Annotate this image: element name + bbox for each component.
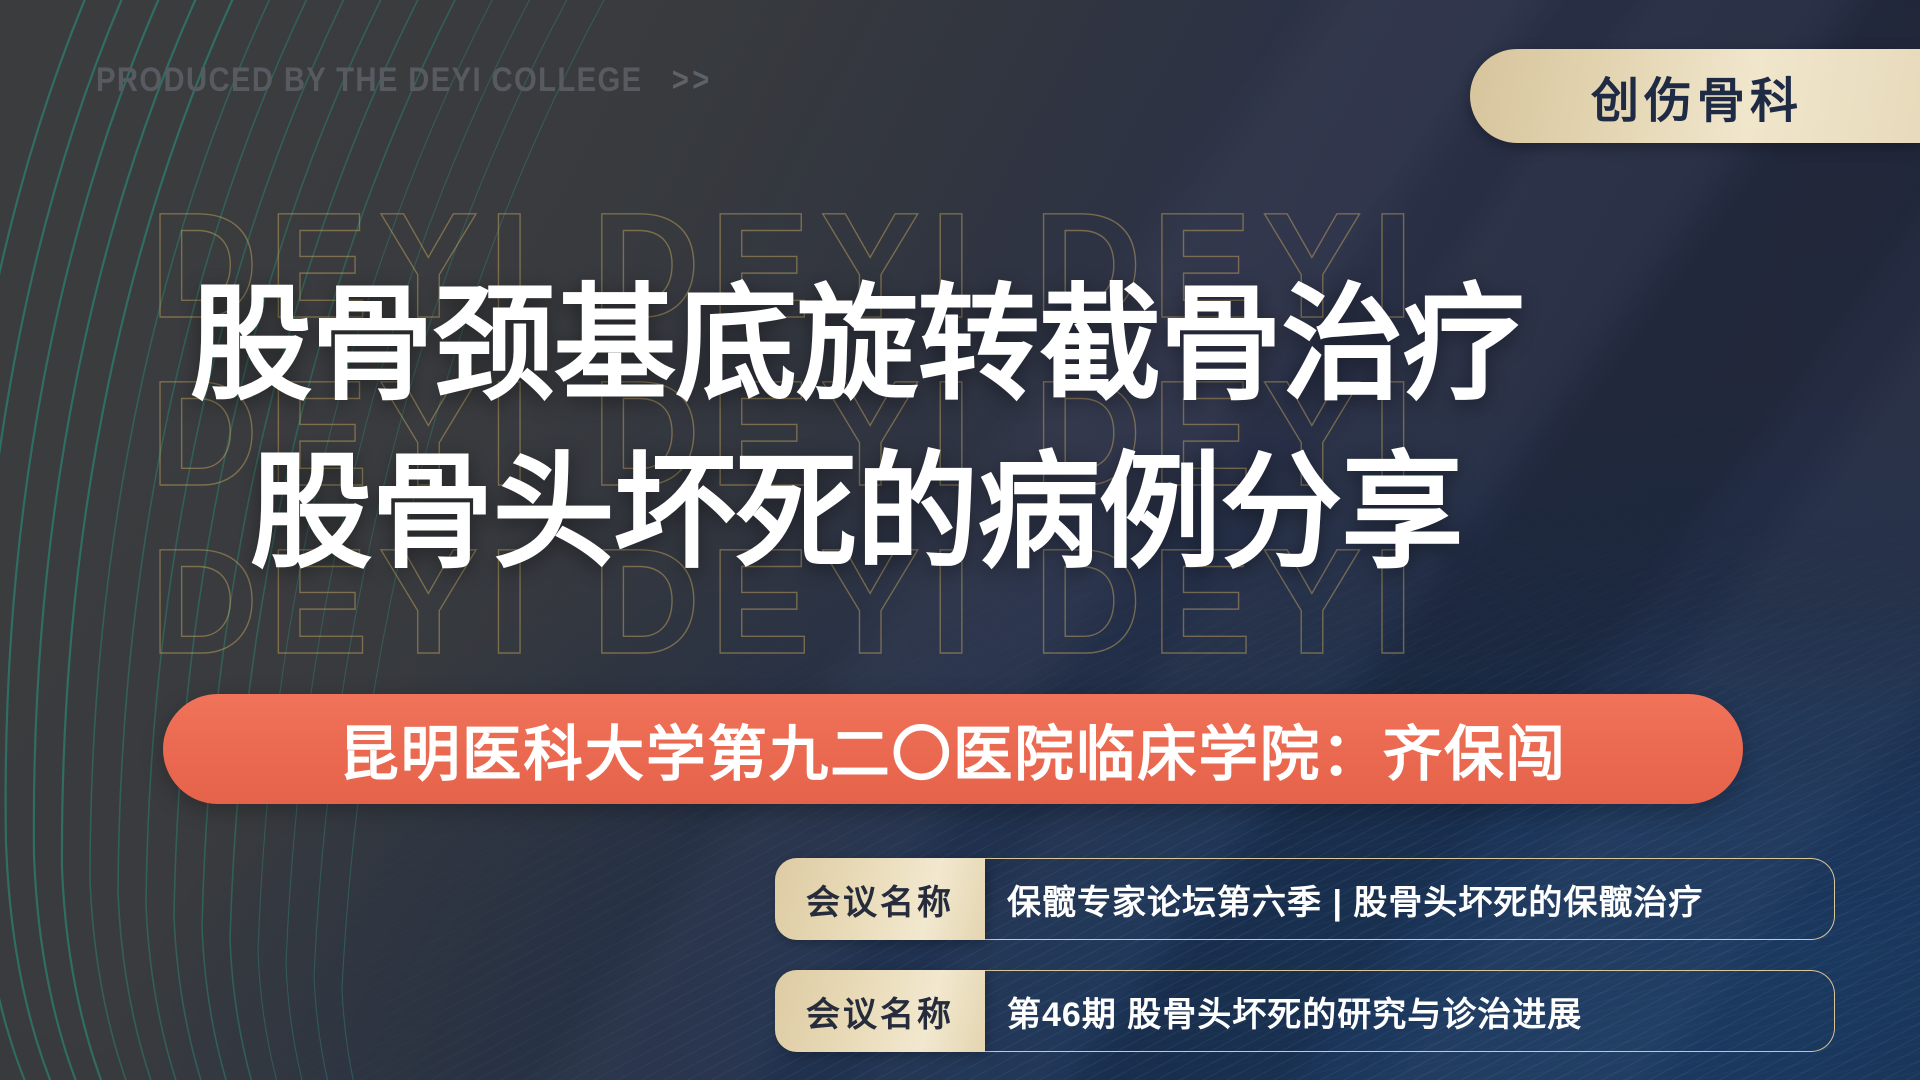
info-row-label-tab-1: 会议名称 — [775, 858, 985, 940]
poster-canvas: DEYI DEYI DEYI DEYI DEYI DEYI DEYI DEYI … — [0, 0, 1920, 1080]
info-row-label-2: 会议名称 — [806, 987, 954, 1036]
info-row-label-tab-2: 会议名称 — [775, 970, 985, 1052]
info-row-label-1: 会议名称 — [806, 875, 954, 924]
